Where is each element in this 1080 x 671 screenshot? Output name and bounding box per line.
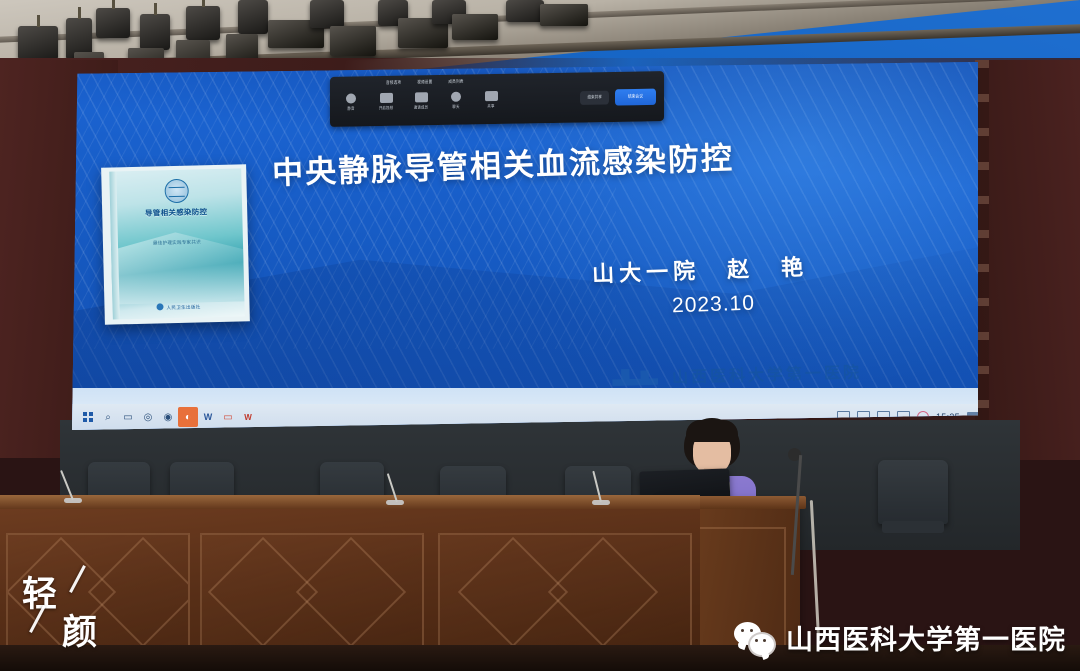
presenter-fringe bbox=[686, 420, 738, 442]
toolbar-item-label: 聊天 bbox=[452, 103, 459, 109]
toolbar-top-item[interactable]: 音频选项 bbox=[386, 80, 401, 87]
search-icon[interactable]: ⌕ bbox=[98, 407, 118, 427]
share-icon bbox=[485, 90, 498, 100]
book-subtitle: 最佳护理实践专家共识 bbox=[111, 238, 243, 247]
microphone-icon bbox=[346, 93, 356, 103]
end-meeting-button[interactable]: 结束会议 bbox=[615, 88, 656, 105]
book-title: 导管相关感染防控 bbox=[110, 206, 242, 219]
taskbar-app-cortana[interactable]: ◎ bbox=[138, 407, 158, 427]
taskbar-app-powerpoint[interactable]: ◐ bbox=[178, 407, 198, 427]
toolbar-top-item[interactable]: 视频设置 bbox=[417, 80, 432, 87]
stage-light-icon bbox=[140, 14, 170, 50]
table-diamond-inlay bbox=[296, 537, 406, 647]
windows-start-icon[interactable] bbox=[78, 407, 98, 427]
toolbar-right-group: 结束共享 结束会议 bbox=[580, 90, 656, 104]
hospital-logo-icon bbox=[612, 368, 658, 386]
stage-light-icon bbox=[186, 6, 220, 40]
stage-light-icon bbox=[540, 4, 588, 26]
toolbar-invite-button[interactable]: 邀请成员 bbox=[408, 92, 434, 109]
table-panel bbox=[200, 533, 424, 647]
stage-light-icon bbox=[310, 0, 344, 28]
right-wall-panel bbox=[975, 60, 1080, 460]
stage-light-icon bbox=[18, 26, 58, 60]
taskbar-app-word[interactable]: W bbox=[198, 407, 218, 427]
stage-light-icon bbox=[330, 26, 376, 56]
watermark-slash bbox=[69, 565, 86, 593]
meeting-toolbar[interactable]: 音频选项 视频设置 成员列表 静音 开启视频 邀请成员 bbox=[330, 71, 664, 127]
book-face: 导管相关感染防控 最佳护理实践专家共识 人民卫生出版社 bbox=[109, 168, 245, 319]
stage-light-icon bbox=[452, 14, 498, 40]
taskbar-app-edge[interactable]: ◉ bbox=[158, 407, 178, 427]
stage-light-icon bbox=[238, 0, 268, 34]
publisher-emblem-icon bbox=[164, 179, 189, 204]
stage-light-icon bbox=[506, 0, 544, 22]
toolbar-item-label: 开启视频 bbox=[379, 104, 393, 111]
projection-screen: 音频选项 视频设置 成员列表 静音 开启视频 邀请成员 bbox=[72, 62, 978, 430]
toolbar-top-item[interactable]: 成员列表 bbox=[448, 79, 463, 86]
toolbar-video-button[interactable]: 开启视频 bbox=[373, 92, 399, 109]
toolbar-mute-button[interactable]: 静音 bbox=[338, 93, 364, 110]
presentation-slide: 音频选项 视频设置 成员列表 静音 开启视频 邀请成员 bbox=[72, 62, 978, 430]
stage-chair bbox=[878, 460, 948, 524]
meeting-toolbar-top-row: 音频选项 视频设置 成员列表 bbox=[386, 80, 464, 86]
toolbar-share-button[interactable]: 共享 bbox=[478, 90, 504, 107]
toolbar-item-label: 邀请成员 bbox=[414, 103, 428, 110]
conference-photo: 音频选项 视频设置 成员列表 静音 开启视频 邀请成员 bbox=[0, 0, 1080, 671]
task-view-icon[interactable]: ▭ bbox=[118, 407, 138, 427]
taskbar-app-mail[interactable]: ▭ bbox=[218, 407, 238, 427]
stop-share-chip[interactable]: 结束共享 bbox=[580, 90, 608, 104]
camera-icon bbox=[380, 92, 393, 102]
taskbar-app-wps[interactable]: W bbox=[238, 407, 258, 427]
app-watermark-char-2: 颜 bbox=[62, 604, 97, 655]
table-diamond-inlay bbox=[548, 537, 658, 647]
account-watermark: 山西医科大学第一医院 bbox=[734, 618, 1066, 657]
table-panel bbox=[438, 533, 692, 647]
chat-icon bbox=[451, 91, 461, 101]
app-watermark: 轻 颜 bbox=[20, 560, 130, 660]
toolbar-item-label: 共享 bbox=[487, 102, 494, 108]
publisher-name: 人民卫生出版社 bbox=[166, 304, 200, 310]
stage-light-icon bbox=[96, 8, 130, 38]
book-publisher: 人民卫生出版社 bbox=[112, 301, 244, 312]
account-watermark-name: 山西医科大学第一医院 bbox=[786, 618, 1066, 657]
toolbar-item-label: 静音 bbox=[347, 104, 354, 110]
publisher-logo-icon bbox=[156, 303, 163, 310]
book-cover-image: 导管相关感染防控 最佳护理实践专家共识 人民卫生出版社 bbox=[101, 164, 250, 324]
wechat-icon bbox=[734, 622, 776, 654]
invite-icon bbox=[415, 92, 428, 102]
toolbar-chat-button[interactable]: 聊天 bbox=[443, 91, 469, 108]
